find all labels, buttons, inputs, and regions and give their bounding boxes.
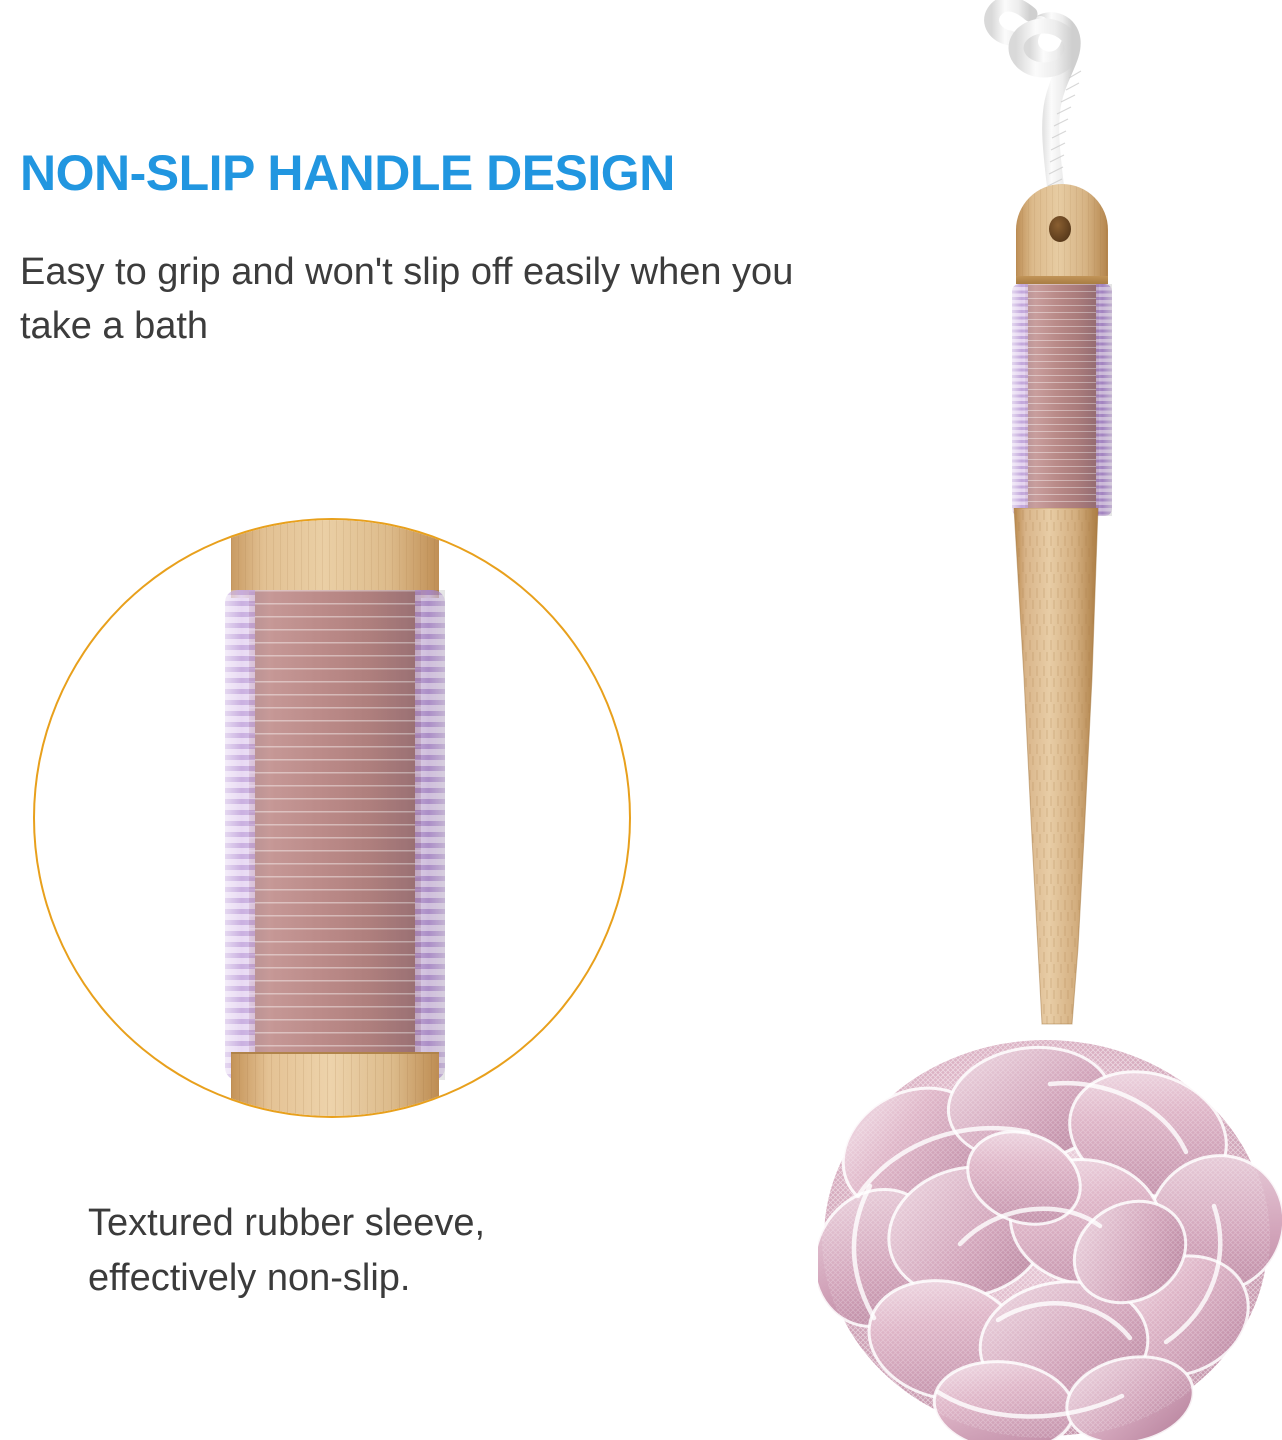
handle-hanging-hole: [1049, 216, 1071, 242]
handle-cap-edge: [1016, 276, 1108, 284]
rubber-grip-sleeve: [1012, 284, 1112, 516]
product-feature-image: NON-SLIP HANDLE DESIGN Easy to grip and …: [0, 0, 1282, 1440]
grip-sheen: [1012, 284, 1112, 516]
wood-shaft: [1000, 508, 1140, 1028]
loofah-pouf: [818, 1000, 1282, 1440]
product-photo: [0, 0, 1282, 1440]
